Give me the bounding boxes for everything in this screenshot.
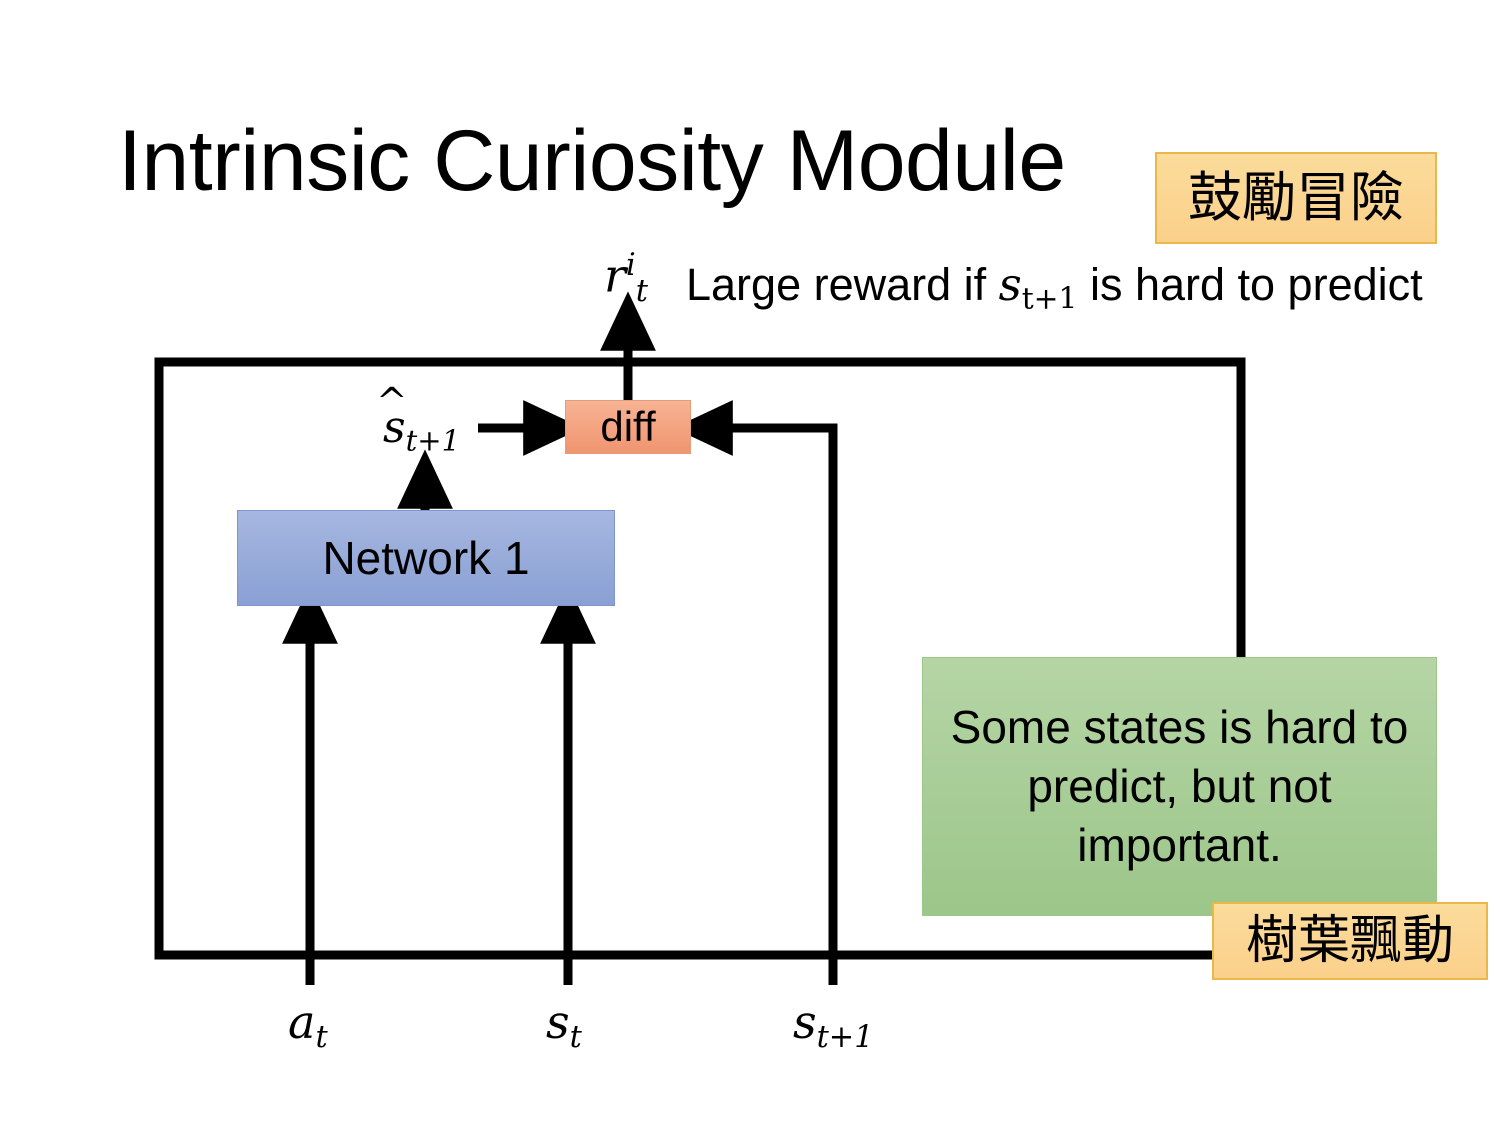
reward-caption-variable-subscript: t+1 <box>1022 281 1078 316</box>
input-state-base: s <box>546 995 570 1049</box>
reward-base: r <box>604 249 626 303</box>
input-state-subscript: t <box>570 1020 582 1055</box>
page-title: Intrinsic Curiosity Module <box>118 112 1066 211</box>
reward-caption: Large reward if st+1 is hard to predict <box>686 258 1423 316</box>
input-label-next-state: st+1 <box>793 995 874 1055</box>
input-action-subscript: t <box>315 1020 327 1055</box>
badge-encourage-adventure: 鼓勵冒險 <box>1155 152 1437 244</box>
predicted-state-subscript: t+1 <box>406 424 460 458</box>
input-label-action: at <box>288 995 328 1055</box>
hat-accent-icon: ^ <box>376 379 407 423</box>
slide-canvas: Intrinsic Curiosity Module 鼓勵冒險 樹葉飄動 rit… <box>0 0 1500 1125</box>
diff-node-label: diff <box>600 403 655 451</box>
input-next-state-subscript: t+1 <box>817 1020 874 1055</box>
input-action-base: a <box>288 995 315 1049</box>
network-1-node[interactable]: Network 1 <box>237 510 615 606</box>
badge-leaves-fluttering: 樹葉飄動 <box>1212 902 1488 980</box>
edge-next-state-to-diff <box>704 428 833 985</box>
note-callout-text: Some states is hard to predict, but not … <box>923 698 1436 875</box>
input-label-state: st <box>546 995 582 1055</box>
reward-caption-suffix: is hard to predict <box>1077 259 1422 310</box>
input-next-state-base: s <box>793 995 817 1049</box>
reward-caption-variable: st+1 <box>999 258 1078 311</box>
diff-node[interactable]: diff <box>565 400 691 454</box>
predicted-state-label: ^st+1 <box>383 402 460 458</box>
reward-superscript: i <box>626 248 636 283</box>
note-callout: Some states is hard to predict, but not … <box>922 657 1437 916</box>
reward-caption-prefix: Large reward if <box>686 259 999 310</box>
reward-subscript: t <box>636 274 648 309</box>
reward-symbol-label: rit <box>604 248 648 309</box>
network-1-label: Network 1 <box>322 531 529 585</box>
reward-caption-variable-base: s <box>999 258 1022 311</box>
